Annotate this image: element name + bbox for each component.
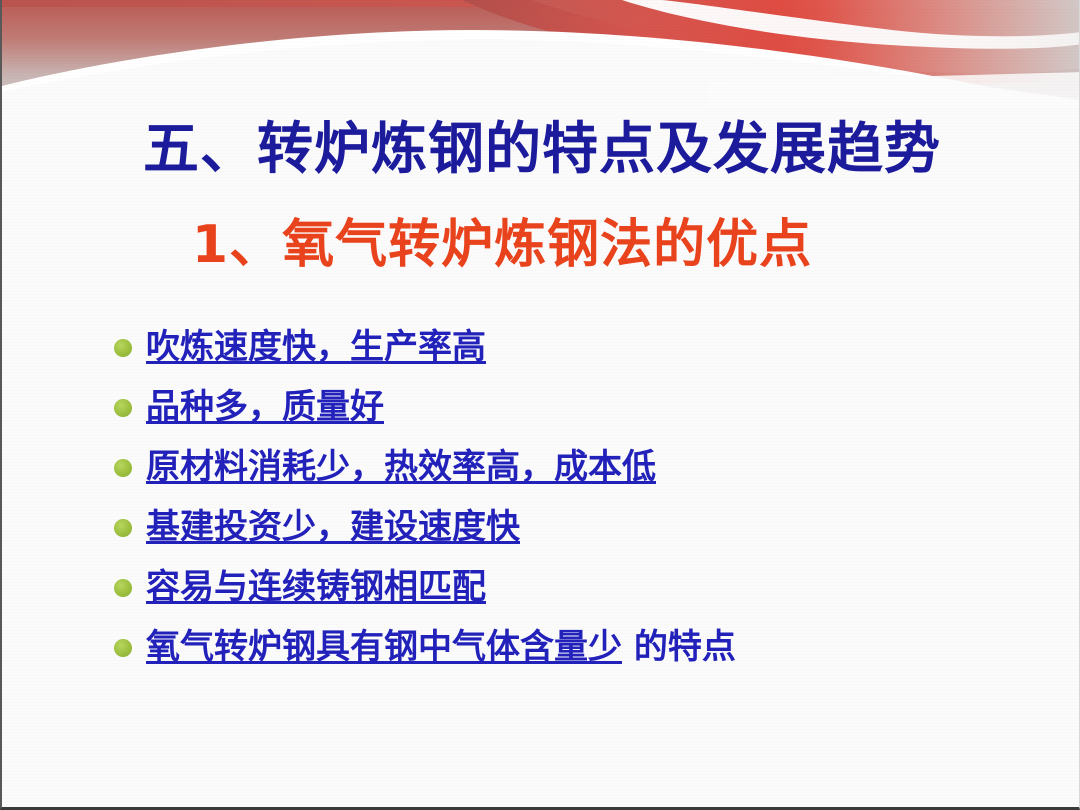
header-banner-decoration bbox=[2, 0, 1080, 108]
bullet-item-text: 品种多，质量好 bbox=[146, 385, 384, 429]
bullet-dot-icon bbox=[114, 399, 132, 417]
bullet-item-underlined: 氧气转炉钢具有钢中气体含量少 bbox=[146, 627, 622, 667]
list-item: 容易与连续铸钢相匹配 bbox=[114, 565, 1014, 625]
bullet-item-text: 原材料消耗少，热效率高，成本低 bbox=[146, 445, 656, 489]
bullet-item-underlined: 基建投资少，建设速度快 bbox=[146, 507, 520, 547]
bullet-dot-icon bbox=[114, 639, 132, 657]
list-item: 原材料消耗少，热效率高，成本低 bbox=[114, 445, 1014, 505]
bullet-item-plain: 的特点 bbox=[622, 627, 736, 667]
slide-title: 五、转炉炼钢的特点及发展趋势 bbox=[2, 104, 1080, 185]
list-item: 吹炼速度快，生产率高 bbox=[114, 325, 1014, 385]
bullet-item-underlined: 吹炼速度快，生产率高 bbox=[146, 327, 486, 367]
bullet-dot-icon bbox=[114, 519, 132, 537]
bullet-item-underlined: 容易与连续铸钢相匹配 bbox=[146, 567, 486, 607]
bullet-item-underlined: 原材料消耗少，热效率高，成本低 bbox=[146, 447, 656, 487]
bullet-item-underlined: 品种多，质量好 bbox=[146, 387, 384, 427]
bullet-item-text: 基建投资少，建设速度快 bbox=[146, 505, 520, 549]
list-item: 基建投资少，建设速度快 bbox=[114, 505, 1014, 565]
list-item: 氧气转炉钢具有钢中气体含量少 的特点 bbox=[114, 625, 1014, 685]
bullet-dot-icon bbox=[114, 339, 132, 357]
slide-subtitle: 1、氧气转炉炼钢法的优点 bbox=[2, 202, 1002, 277]
bullet-list: 吹炼速度快，生产率高 品种多，质量好 原材料消耗少，热效率高，成本低 基建投资少… bbox=[114, 325, 1014, 685]
bullet-dot-icon bbox=[114, 459, 132, 477]
bullet-dot-icon bbox=[114, 579, 132, 597]
bullet-item-text: 吹炼速度快，生产率高 bbox=[146, 325, 486, 369]
bullet-item-text: 氧气转炉钢具有钢中气体含量少 的特点 bbox=[146, 625, 736, 669]
bullet-item-text: 容易与连续铸钢相匹配 bbox=[146, 565, 486, 609]
list-item: 品种多，质量好 bbox=[114, 385, 1014, 445]
presentation-slide: 五、转炉炼钢的特点及发展趋势 1、氧气转炉炼钢法的优点 吹炼速度快，生产率高 品… bbox=[0, 0, 1080, 810]
